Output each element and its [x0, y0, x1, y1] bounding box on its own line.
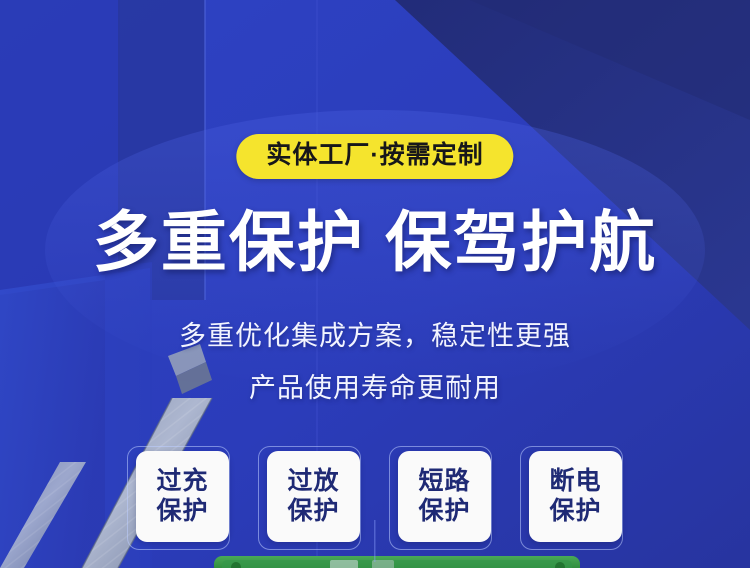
- feature-label-line2: 保护: [287, 497, 339, 527]
- feature-box-card: 断电 保护: [529, 451, 622, 542]
- factory-custom-badge: 实体工厂·按需定制: [236, 134, 513, 179]
- feature-box-overdischarge: 过放 保护: [258, 446, 361, 550]
- banner-subtitle-2: 产品使用寿命更耐用: [0, 374, 750, 404]
- feature-label-line1: 短路: [418, 467, 470, 497]
- banner-headline: 多重保护 保驾护航: [0, 205, 750, 281]
- feature-box-power-cut: 断电 保护: [520, 446, 623, 550]
- banner-subtitle-1: 多重优化集成方案，稳定性更强: [0, 322, 750, 352]
- feature-box-overcharge: 过充 保护: [127, 446, 230, 550]
- banner-stage: 实体工厂·按需定制 多重保护 保驾护航 多重优化集成方案，稳定性更强 产品使用寿…: [0, 0, 750, 568]
- feature-box-short-circuit: 短路 保护: [389, 446, 492, 550]
- feature-box-card: 过充 保护: [136, 451, 229, 542]
- protection-feature-list: 过充 保护 过放 保护 短路 保护 断电 保护: [0, 446, 750, 550]
- feature-label-line1: 过放: [287, 467, 339, 497]
- feature-box-card: 过放 保护: [267, 451, 360, 542]
- feature-label-line2: 保护: [156, 497, 208, 527]
- pcb-board-decor: [214, 556, 580, 568]
- feature-box-card: 短路 保护: [398, 451, 491, 542]
- feature-label-line1: 过充: [156, 467, 208, 497]
- feature-label-line1: 断电: [549, 467, 601, 497]
- feature-label-line2: 保护: [549, 497, 601, 527]
- feature-label-line2: 保护: [418, 497, 470, 527]
